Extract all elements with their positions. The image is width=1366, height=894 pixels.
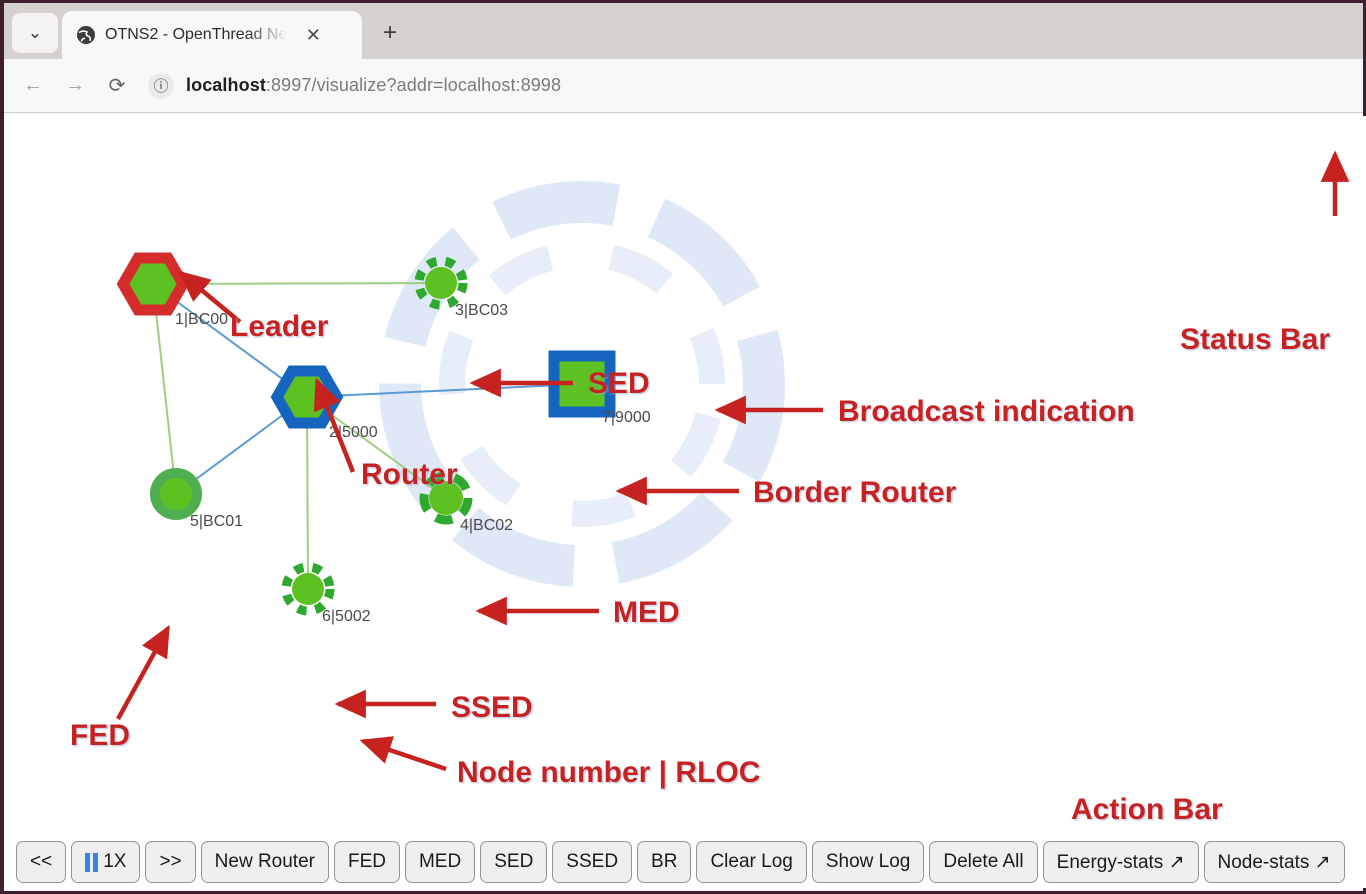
annotation-leader: Leader bbox=[230, 310, 329, 343]
clear-log-label: Clear Log bbox=[710, 851, 792, 873]
annotation-broadcast: Broadcast indication bbox=[838, 395, 1135, 428]
speed-toggle-button[interactable]: 1X bbox=[71, 841, 140, 883]
visualizer-svg: 1|BC002|50003|BC034|BC025|BC016|50027|90… bbox=[8, 116, 1366, 841]
annotation-status-bar: Status Bar bbox=[1180, 323, 1330, 356]
step-forward-label: >> bbox=[159, 851, 181, 873]
new-med-button[interactable]: MED bbox=[405, 841, 475, 883]
annotation-sed: SED bbox=[588, 367, 650, 400]
close-icon[interactable]: ✕ bbox=[300, 22, 326, 48]
annotation-ssed: SSED bbox=[451, 691, 533, 724]
forward-icon[interactable]: → bbox=[56, 67, 94, 105]
node-5-fed[interactable]: 5|BC01 bbox=[155, 473, 243, 530]
tab-title: OTNS2 - OpenThread Ne bbox=[105, 26, 287, 44]
node-label-3: 3|BC03 bbox=[455, 302, 508, 319]
node-1-leader[interactable]: 1|BC00 bbox=[123, 258, 228, 328]
annotation-action-bar: Action Bar bbox=[1071, 793, 1223, 826]
new-fed-button[interactable]: FED bbox=[334, 841, 400, 883]
address-bar[interactable]: ⓘ localhost:8997/visualize?addr=localhos… bbox=[140, 67, 1353, 105]
chevron-down-glyph: ⌄ bbox=[28, 23, 42, 43]
new-ssed-label: SSED bbox=[566, 851, 618, 873]
clear-log-button[interactable]: Clear Log bbox=[696, 841, 806, 883]
annotation-fed: FED bbox=[70, 719, 130, 752]
node-stats-label: Node-stats ↗ bbox=[1218, 851, 1331, 874]
action-bar[interactable]: <<1X>>New RouterFEDMEDSEDSSEDBRClear Log… bbox=[8, 835, 1366, 888]
show-log-label: Show Log bbox=[826, 851, 911, 873]
node-6-ssed[interactable]: 6|5002 bbox=[286, 567, 371, 625]
new-router-button[interactable]: New Router bbox=[201, 841, 329, 883]
back-icon[interactable]: ← bbox=[14, 67, 52, 105]
delete-all-button[interactable]: Delete All bbox=[929, 841, 1037, 883]
new-tab-button[interactable]: + bbox=[372, 15, 408, 51]
new-sed-button[interactable]: SED bbox=[480, 841, 547, 883]
url-host: localhost bbox=[186, 75, 266, 95]
pause-icon bbox=[85, 853, 98, 872]
new-br-button[interactable]: BR bbox=[637, 841, 691, 883]
node-label-6: 6|5002 bbox=[322, 608, 371, 625]
annotation-node-number-rloc: Node number | RLOC bbox=[457, 756, 760, 789]
energy-stats-button[interactable]: Energy-stats ↗ bbox=[1043, 841, 1199, 883]
node-label-7: 7|9000 bbox=[602, 409, 651, 426]
url-path: :8997/visualize?addr=localhost:8998 bbox=[266, 75, 561, 95]
network-visualizer[interactable]: 1|BC002|50003|BC034|BC025|BC016|50027|90… bbox=[8, 116, 1366, 841]
annotation-router: Router bbox=[361, 458, 458, 491]
new-sed-label: SED bbox=[494, 851, 533, 873]
new-br-label: BR bbox=[651, 851, 677, 873]
tab-list-chevron-icon[interactable]: ⌄ bbox=[12, 13, 58, 53]
tab-strip: ⌄ OTNS2 - OpenThread Ne ✕ + bbox=[4, 3, 1363, 59]
step-back-label: << bbox=[30, 851, 52, 873]
speed-toggle-label: 1X bbox=[103, 851, 126, 873]
site-info-icon[interactable]: ⓘ bbox=[148, 73, 174, 99]
node-label-1: 1|BC00 bbox=[175, 311, 228, 328]
globe-icon bbox=[76, 25, 96, 45]
url-text: localhost:8997/visualize?addr=localhost:… bbox=[186, 75, 561, 96]
step-forward-button[interactable]: >> bbox=[145, 841, 195, 883]
step-back-button[interactable]: << bbox=[16, 841, 66, 883]
node-label-4: 4|BC02 bbox=[460, 517, 513, 534]
reload-icon[interactable]: ⟳ bbox=[98, 67, 136, 105]
arrow-fed bbox=[118, 628, 168, 719]
arrow-node-rloc bbox=[363, 741, 446, 769]
new-fed-label: FED bbox=[348, 851, 386, 873]
annotation-border-router: Border Router bbox=[753, 476, 957, 509]
node-label-5: 5|BC01 bbox=[190, 513, 243, 530]
navigation-bar: ← → ⟳ ⓘ localhost:8997/visualize?addr=lo… bbox=[4, 59, 1363, 113]
node-stats-button[interactable]: Node-stats ↗ bbox=[1204, 841, 1345, 883]
annotation-labels: LeaderSEDBroadcast indicationStatus BarR… bbox=[70, 310, 1330, 841]
energy-stats-label: Energy-stats ↗ bbox=[1057, 851, 1185, 874]
new-ssed-button[interactable]: SSED bbox=[552, 841, 632, 883]
new-med-label: MED bbox=[419, 851, 461, 873]
new-router-label: New Router bbox=[215, 851, 315, 873]
browser-window: ⌄ OTNS2 - OpenThread Ne ✕ + ← → ⟳ ⓘ loca… bbox=[0, 0, 1366, 894]
show-log-button[interactable]: Show Log bbox=[812, 841, 925, 883]
browser-tab-otns2[interactable]: OTNS2 - OpenThread Ne ✕ bbox=[62, 11, 362, 59]
annotation-med: MED bbox=[613, 596, 680, 629]
delete-all-label: Delete All bbox=[943, 851, 1023, 873]
